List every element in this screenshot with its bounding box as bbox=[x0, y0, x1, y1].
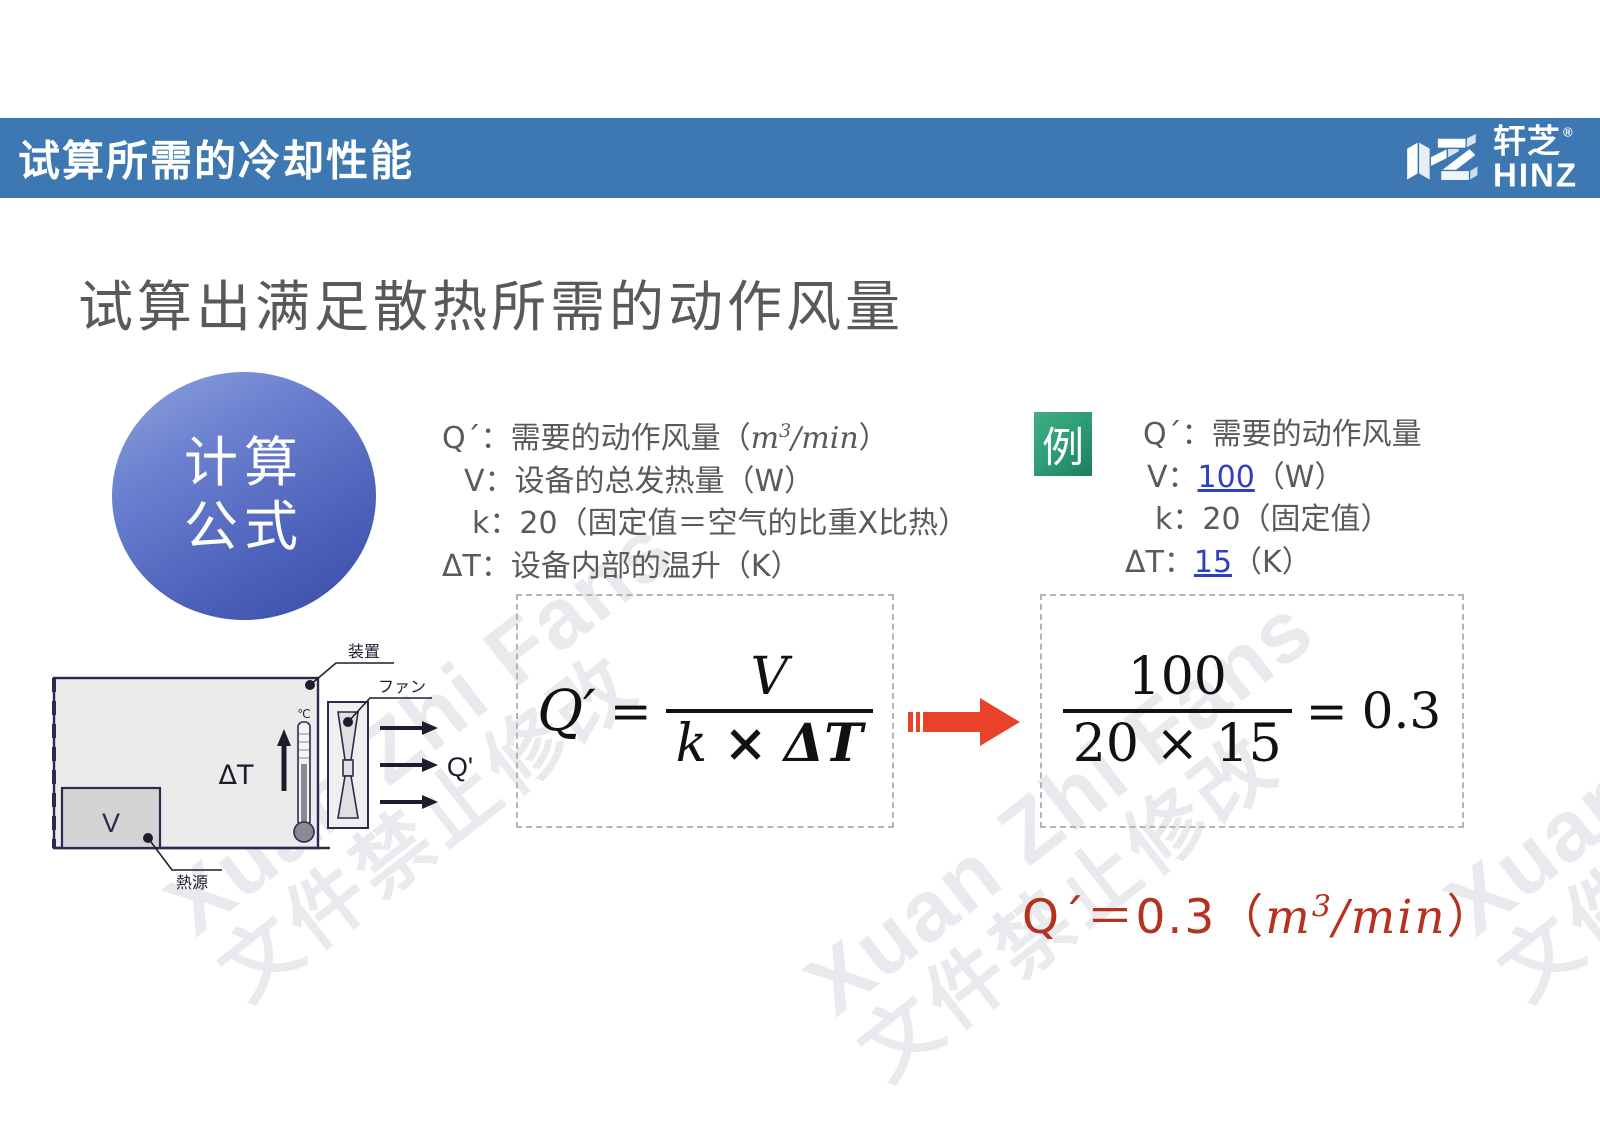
example-dt-value: 15 bbox=[1194, 545, 1232, 580]
example-line-dt: ΔT：15（K） bbox=[1125, 542, 1422, 585]
legend-line-dt: ΔT：设备内部的温升（K） bbox=[442, 546, 968, 589]
example-line-v: V：100（W） bbox=[1125, 457, 1422, 500]
svg-text:Q': Q' bbox=[447, 752, 473, 782]
fraction-numerator: V bbox=[740, 650, 798, 705]
equation-fraction: V k × ΔT bbox=[666, 650, 873, 771]
svg-text:ファン: ファン bbox=[378, 677, 426, 696]
example-result: 0.3 bbox=[1362, 682, 1442, 740]
legend-line-k: k：20（固定值＝空气的比重X比热） bbox=[442, 503, 968, 546]
svg-text:℃: ℃ bbox=[297, 707, 310, 721]
fraction-bar bbox=[1063, 709, 1292, 713]
example-denominator: 20 × 15 bbox=[1063, 717, 1292, 772]
example-equals: = bbox=[1306, 682, 1348, 740]
page-title: 试算所需的冷却性能 bbox=[18, 128, 414, 189]
result-label: Q´＝0.3（ bbox=[1022, 890, 1265, 945]
header-band: 试算所需的冷却性能 轩芝® HINZ bbox=[0, 118, 1600, 198]
example-v-value: 100 bbox=[1198, 460, 1255, 495]
registered-icon: ® bbox=[1563, 125, 1574, 140]
red-right-arrow-icon bbox=[908, 694, 1024, 750]
example-line-k: k：20（固定值） bbox=[1125, 499, 1422, 542]
result-unit: m3/min bbox=[1265, 890, 1446, 945]
equation-equals: = bbox=[610, 682, 652, 740]
formula-circle-badge: 计算 公式 bbox=[112, 372, 376, 620]
equation-general: Q′ = V k × ΔT bbox=[537, 650, 873, 771]
equation-example: 100 20 × 15 = 0.3 bbox=[1063, 650, 1441, 771]
formula-box-general: Q′ = V k × ΔT bbox=[516, 594, 894, 828]
brand-logo: 轩芝® HINZ bbox=[1401, 125, 1578, 192]
formula-box-example: 100 20 × 15 = 0.3 bbox=[1040, 594, 1464, 828]
svg-text:V: V bbox=[102, 808, 120, 838]
result-close-paren: ） bbox=[1447, 890, 1496, 945]
example-numerator: 100 bbox=[1118, 650, 1237, 705]
hz-block-logo-icon bbox=[1401, 129, 1487, 187]
badge-line-2: 公式 bbox=[184, 496, 304, 560]
variable-legend-general: Q´：需要的动作风量（m3/min） V：设备的总发热量（W） k：20（固定值… bbox=[442, 418, 968, 588]
logo-cn-name: 轩芝® bbox=[1493, 125, 1578, 158]
example-fraction: 100 20 × 15 bbox=[1063, 650, 1292, 771]
svg-text:ΔT: ΔT bbox=[219, 760, 254, 791]
logo-en-name: HINZ bbox=[1493, 159, 1578, 192]
example-badge: 例 bbox=[1034, 412, 1092, 476]
logo-wordmark: 轩芝® HINZ bbox=[1493, 125, 1578, 192]
equation-lhs: Q′ bbox=[537, 679, 596, 744]
watermark-cn: 文件禁止修改 bbox=[1486, 573, 1600, 1015]
enclosure-airflow-diagram: V ΔT ℃ bbox=[40, 636, 490, 898]
legend-line-q: Q´：需要的动作风量（m3/min） bbox=[442, 418, 968, 461]
section-subtitle: 试算出满足散热所需的动作风量 bbox=[78, 262, 904, 342]
svg-text:熱源: 熱源 bbox=[176, 873, 208, 892]
badge-line-1: 计算 bbox=[184, 432, 304, 496]
fraction-denominator: k × ΔT bbox=[666, 717, 873, 772]
legend-line-v: V：设备的总发热量（W） bbox=[442, 461, 968, 504]
slide-canvas: Xuan Zhi Fans 文件禁止修改 Xuan Zhi Fans 文件禁止修… bbox=[0, 0, 1600, 1130]
variable-legend-example: Q´：需要的动作风量 V：100（W） k：20（固定值） ΔT：15（K） bbox=[1125, 414, 1422, 584]
svg-text:装置: 装置 bbox=[348, 642, 380, 661]
example-line-q: Q´：需要的动作风量 bbox=[1125, 414, 1422, 457]
result-statement: Q´＝0.3（m3/min） bbox=[1022, 878, 1496, 947]
